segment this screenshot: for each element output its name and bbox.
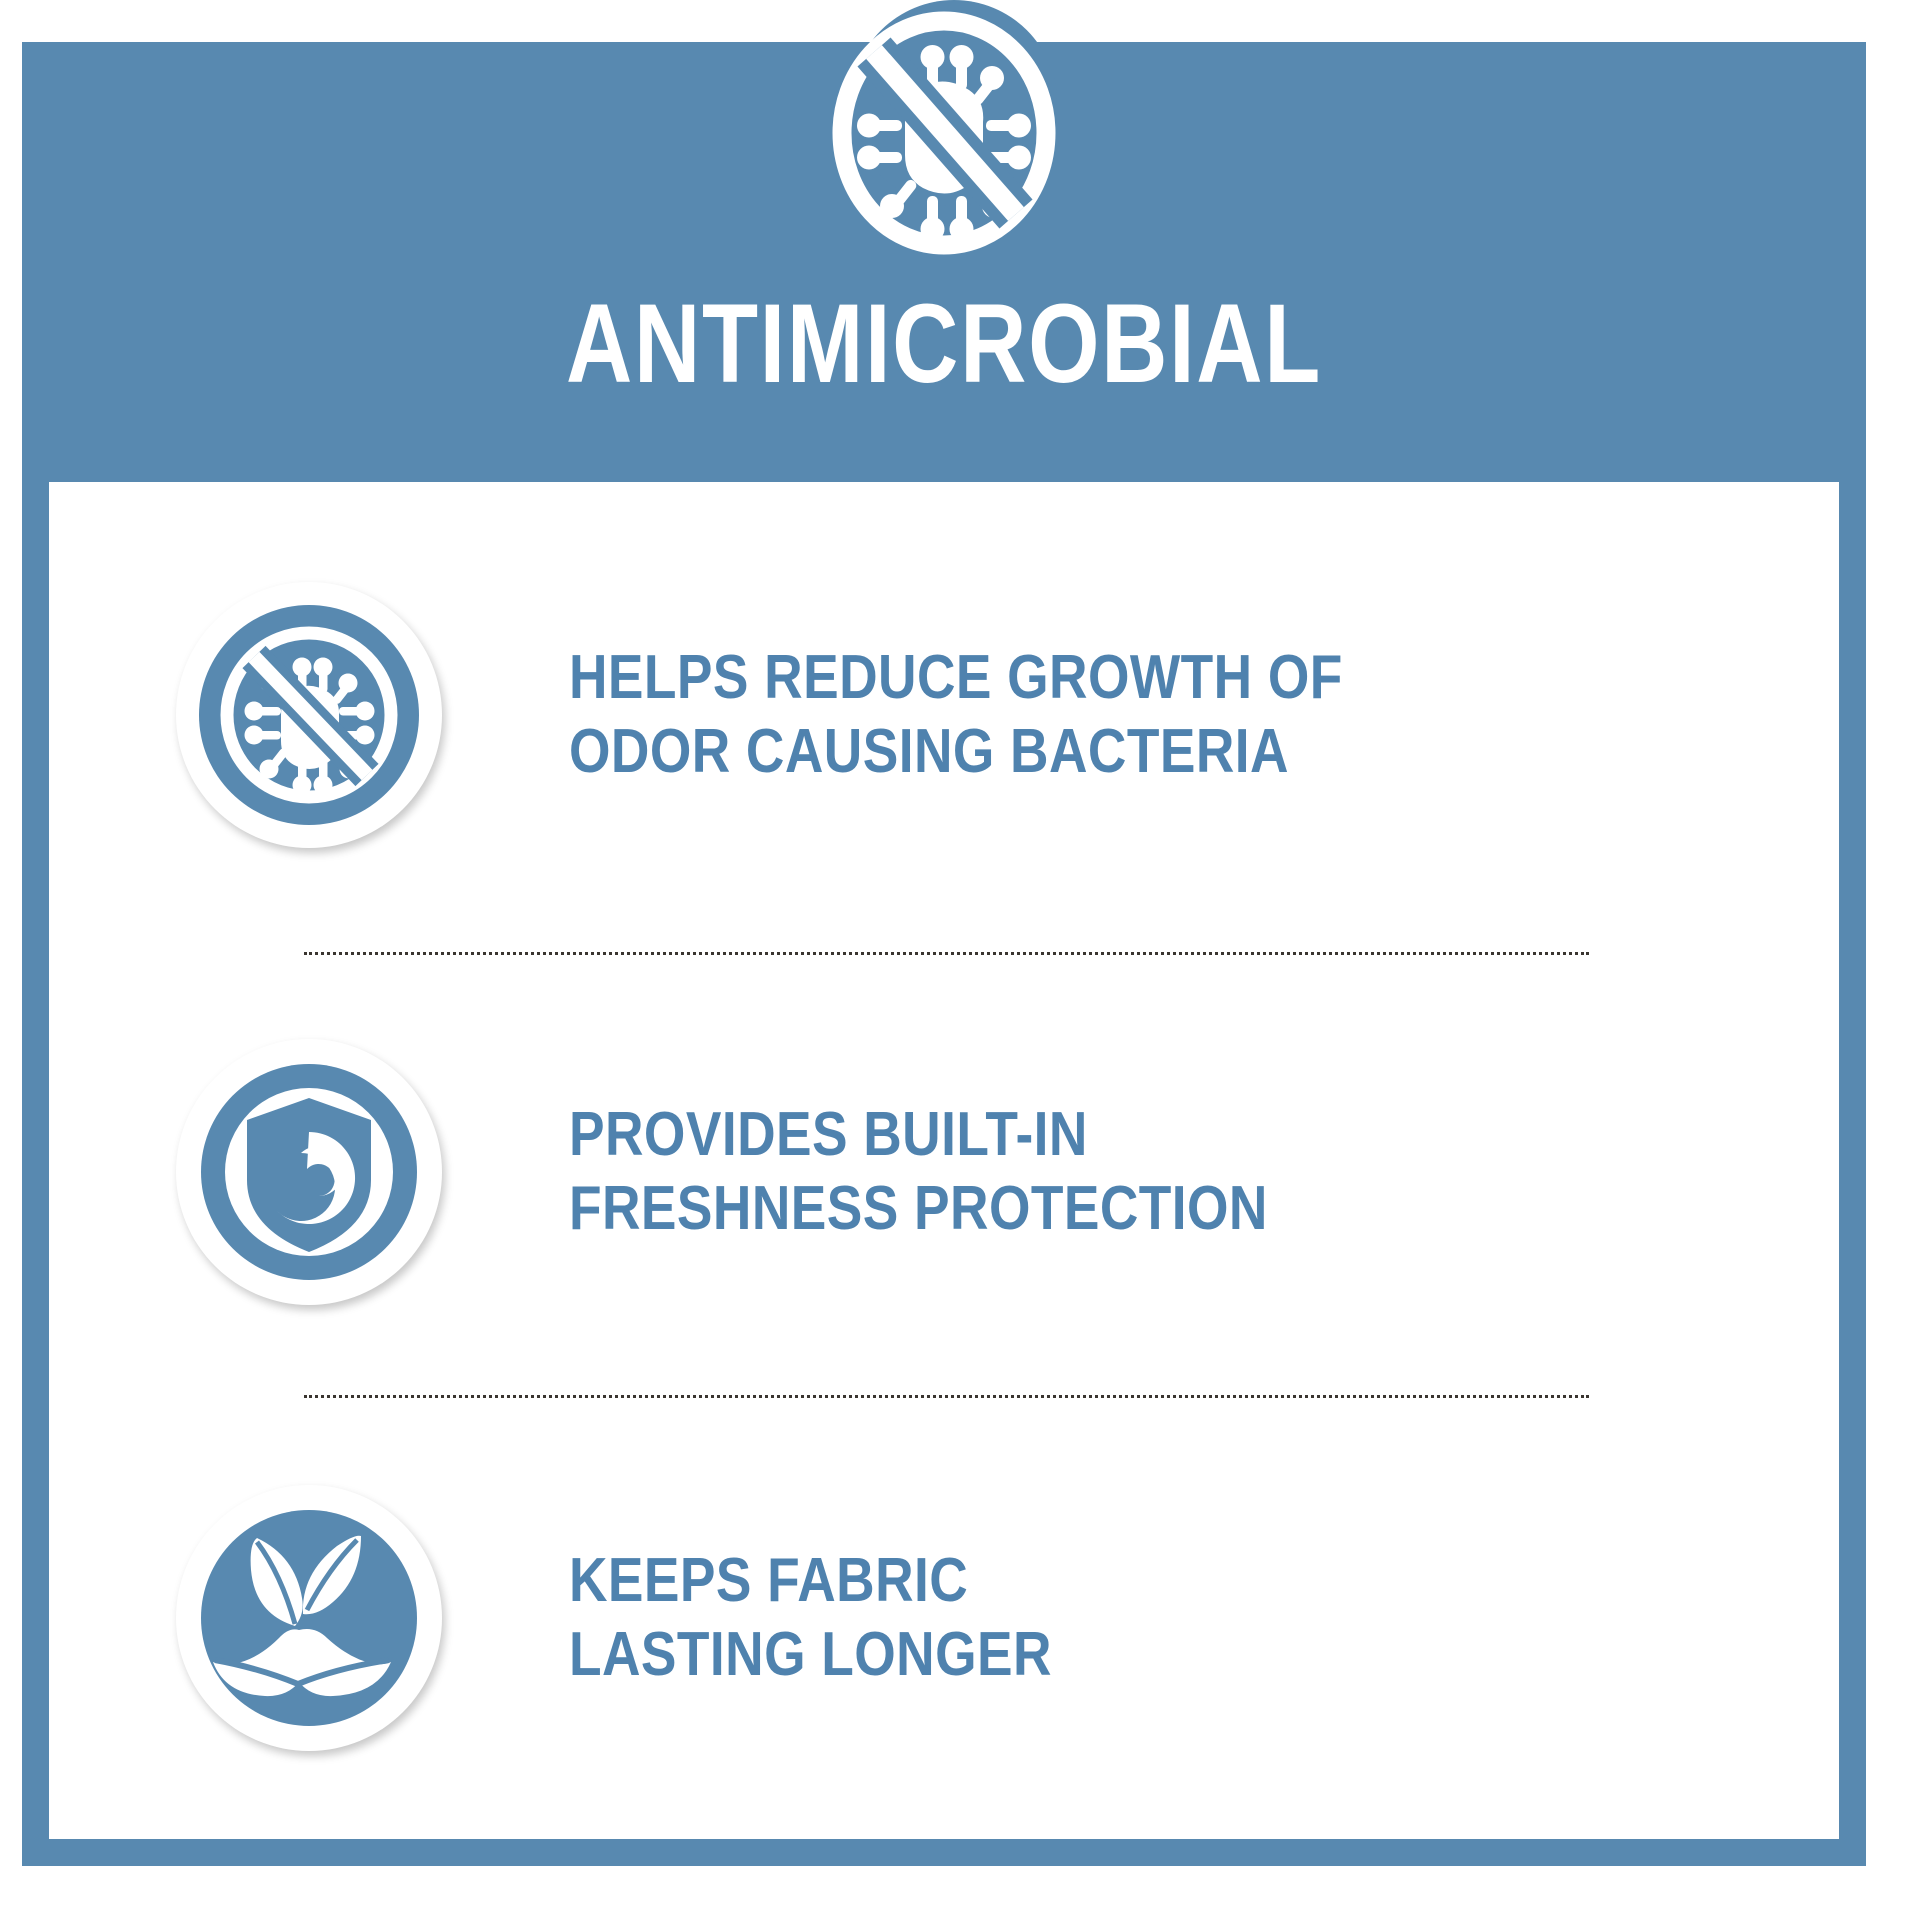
- feature-text-line-1: KEEPS FABRIC: [569, 1544, 1661, 1618]
- badge-container: [49, 482, 569, 947]
- feature-list: HELPS REDUCE GROWTH OF ODOR CAUSING BACT…: [49, 482, 1839, 1839]
- feature-text-line-2: FRESHNESS PROTECTION: [569, 1172, 1661, 1246]
- feature-badge: [176, 1485, 442, 1751]
- shield-swirl-icon: [199, 1062, 419, 1282]
- feature-row: KEEPS FABRIC LASTING LONGER: [49, 1397, 1839, 1839]
- header: ANTIMICROBIAL: [22, 42, 1866, 482]
- feature-badge: [176, 1039, 442, 1305]
- feature-text: HELPS REDUCE GROWTH OF ODOR CAUSING BACT…: [569, 641, 1661, 789]
- no-virus-icon: [199, 605, 419, 825]
- feature-text: KEEPS FABRIC LASTING LONGER: [569, 1544, 1661, 1692]
- feature-text-line-1: HELPS REDUCE GROWTH OF: [569, 641, 1661, 715]
- antimicrobial-infographic: ANTIMICROBIAL: [0, 0, 1908, 1908]
- feature-row: HELPS REDUCE GROWTH OF ODOR CAUSING BACT…: [49, 482, 1839, 947]
- feature-text-line-1: PROVIDES BUILT-IN: [569, 1098, 1661, 1172]
- feature-row: PROVIDES BUILT-IN FRESHNESS PROTECTION: [49, 952, 1839, 1392]
- content-card: HELPS REDUCE GROWTH OF ODOR CAUSING BACT…: [49, 482, 1839, 1839]
- feature-text: PROVIDES BUILT-IN FRESHNESS PROTECTION: [569, 1098, 1661, 1246]
- page-title: ANTIMICROBIAL: [188, 288, 1700, 400]
- feature-badge: [176, 582, 442, 848]
- feature-text-line-2: ODOR CAUSING BACTERIA: [569, 715, 1661, 789]
- feature-text-line-2: LASTING LONGER: [569, 1618, 1661, 1692]
- badge-container: [49, 952, 569, 1392]
- badge-container: [49, 1397, 569, 1839]
- no-virus-icon: [826, 10, 1062, 256]
- leaf-sprout-icon: [199, 1508, 419, 1728]
